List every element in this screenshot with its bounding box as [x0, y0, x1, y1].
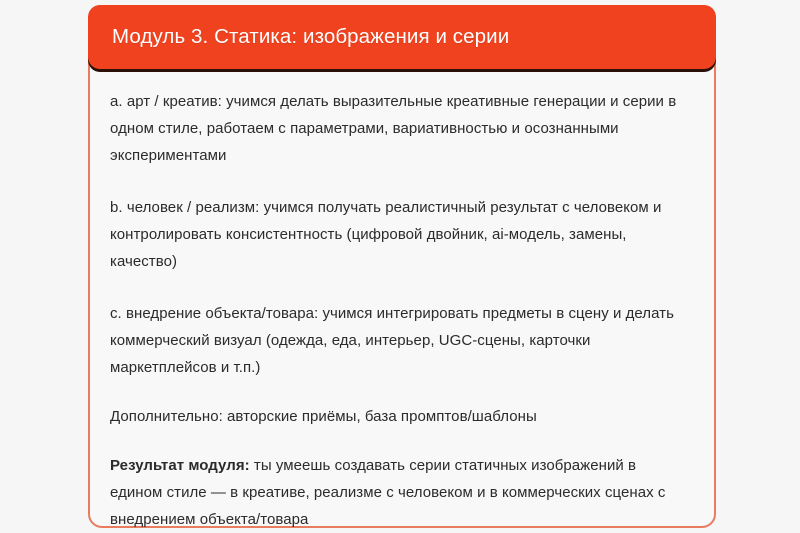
module-item-a-text: a. арт / креатив: учимся делать выразите…	[110, 93, 676, 164]
module-result: Результат модуля: ты умеешь создавать се…	[110, 452, 690, 533]
module-item-b: b. человек / реализм: учимся получать ре…	[110, 194, 690, 275]
module-item-b-text: b. человек / реализм: учимся получать ре…	[110, 199, 661, 270]
module-item-a: a. арт / креатив: учимся делать выразите…	[110, 88, 690, 169]
module-result-label: Результат модуля:	[110, 457, 250, 474]
module-card-body: a. арт / креатив: учимся делать выразите…	[88, 69, 716, 528]
module-item-c-text: c. внедрение объекта/товара: учимся инте…	[110, 305, 674, 376]
page-background: Модуль 3. Статика: изображения и серии a…	[0, 0, 800, 532]
module-item-c: c. внедрение объекта/товара: учимся инте…	[110, 300, 690, 381]
module-additional-note: Дополнительно: авторские приёмы, база пр…	[110, 403, 690, 430]
module-title: Модуль 3. Статика: изображения и серии	[88, 25, 509, 49]
module-card-header: Модуль 3. Статика: изображения и серии	[88, 5, 716, 69]
module-additional-note-text: Дополнительно: авторские приёмы, база пр…	[110, 408, 537, 425]
